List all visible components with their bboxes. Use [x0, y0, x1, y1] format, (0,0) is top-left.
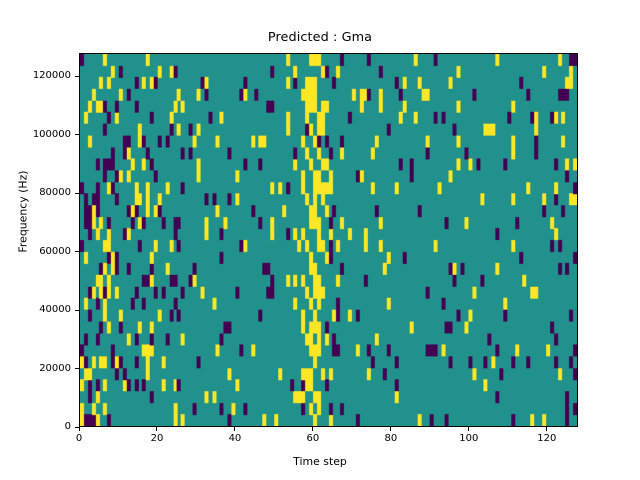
matplotlib-figure: Predicted : Gma 020000400006000080000100…	[0, 0, 640, 480]
y-tick-mark	[75, 193, 79, 194]
x-tick-mark	[234, 427, 235, 431]
y-tick-label: 100000	[33, 130, 71, 140]
heatmap-axes	[79, 53, 578, 427]
x-tick-label: 80	[385, 434, 398, 444]
x-tick-label: 0	[76, 434, 82, 444]
x-tick-label: 20	[151, 434, 164, 444]
x-tick-label: 60	[307, 434, 320, 444]
y-axis-label: Frequency (Hz)	[17, 152, 30, 272]
x-tick-mark	[156, 427, 157, 431]
page-title: Predicted : Gma	[0, 30, 640, 45]
y-tick-mark	[75, 368, 79, 369]
heatmap-image	[80, 54, 577, 426]
x-tick-mark	[312, 427, 313, 431]
x-tick-mark	[468, 427, 469, 431]
y-tick-label: 80000	[39, 188, 71, 198]
x-axis-label: Time step	[0, 455, 640, 468]
y-tick-label: 120000	[33, 71, 71, 81]
y-tick-label: 60000	[39, 247, 71, 257]
x-tick-mark	[79, 427, 80, 431]
y-tick-label: 20000	[39, 364, 71, 374]
x-tick-label: 120	[537, 434, 556, 444]
x-tick-label: 100	[459, 434, 478, 444]
x-tick-mark	[390, 427, 391, 431]
x-tick-label: 40	[229, 434, 242, 444]
y-tick-mark	[75, 251, 79, 252]
y-tick-label: 40000	[39, 305, 71, 315]
y-tick-mark	[75, 134, 79, 135]
y-tick-label: 0	[65, 422, 71, 432]
y-tick-mark	[75, 310, 79, 311]
y-tick-mark	[75, 76, 79, 77]
x-tick-mark	[546, 427, 547, 431]
